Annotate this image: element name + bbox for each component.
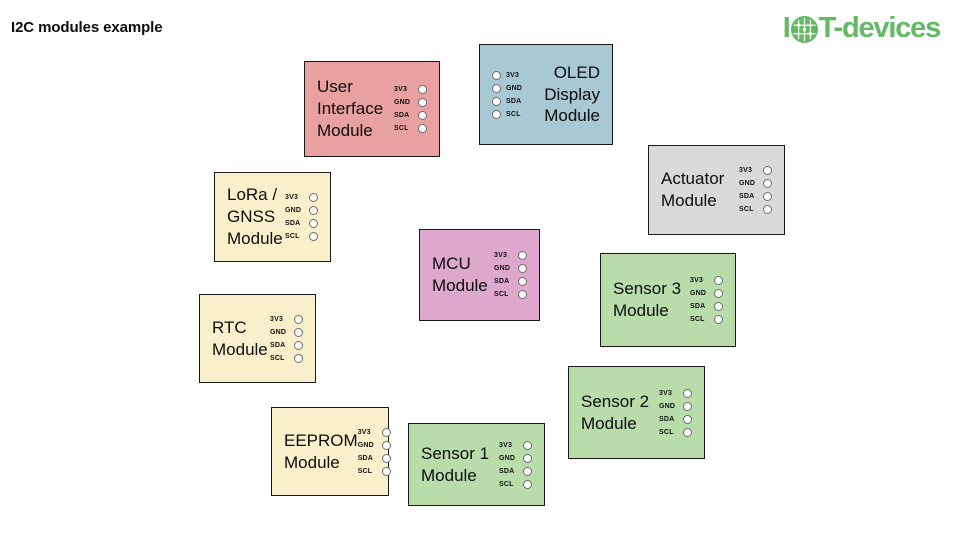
pin-pad-icon[interactable] <box>418 111 427 120</box>
pin-row[interactable]: SDA <box>394 110 427 121</box>
module-name: Sensor 2 Module <box>581 391 649 435</box>
module-name: EEPROM Module <box>284 430 358 474</box>
pin-row[interactable]: 3V3 <box>394 84 427 95</box>
brand-text-before: I <box>783 14 790 43</box>
pin-row[interactable]: SCL <box>285 231 318 242</box>
pin-row[interactable]: GND <box>494 263 527 274</box>
module-sensor-1[interactable]: Sensor 1 Module3V3GNDSDASCL <box>408 423 545 506</box>
pin-label: SDA <box>394 112 413 119</box>
pin-pad-icon[interactable] <box>714 315 723 324</box>
pin-row[interactable]: SDA <box>492 96 525 107</box>
pin-row[interactable]: SCL <box>394 123 427 134</box>
pin-label: GND <box>494 265 513 272</box>
pin-label: SDA <box>499 468 518 475</box>
pin-header: 3V3GNDSDASCL <box>492 70 525 120</box>
pin-label: GND <box>285 207 304 214</box>
pin-row[interactable]: 3V3 <box>285 192 318 203</box>
pin-label: SCL <box>506 111 525 118</box>
pin-label: 3V3 <box>506 72 525 79</box>
pin-header: 3V3GNDSDASCL <box>739 165 772 215</box>
pin-pad-icon[interactable] <box>418 124 427 133</box>
pin-label: GND <box>394 99 413 106</box>
pin-pad-icon[interactable] <box>714 289 723 298</box>
pin-row[interactable]: SCL <box>358 466 391 477</box>
module-user-interface[interactable]: User Interface Module3V3GNDSDASCL <box>304 61 440 157</box>
module-actuator[interactable]: Actuator Module3V3GNDSDASCL <box>648 145 785 235</box>
pin-pad-icon[interactable] <box>683 402 692 411</box>
pin-header: 3V3GNDSDASCL <box>690 275 723 325</box>
pin-label: GND <box>506 85 525 92</box>
pin-pad-icon[interactable] <box>309 193 318 202</box>
brand-text-after: T-devices <box>819 14 940 43</box>
pin-row[interactable]: SDA <box>358 453 391 464</box>
pin-pad-icon[interactable] <box>492 71 501 80</box>
pin-label: SCL <box>494 291 513 298</box>
pin-pad-icon[interactable] <box>518 264 527 273</box>
pin-row[interactable]: SCL <box>690 314 723 325</box>
pin-label: SCL <box>690 316 709 323</box>
pin-row[interactable]: GND <box>270 327 303 338</box>
module-name: Sensor 3 Module <box>613 278 681 322</box>
pin-pad-icon[interactable] <box>518 251 527 260</box>
pin-label: 3V3 <box>690 277 709 284</box>
pin-pad-icon[interactable] <box>492 84 501 93</box>
diagram-canvas: I2C modules example I <box>0 0 960 540</box>
pin-label: 3V3 <box>499 442 518 449</box>
pin-pad-icon[interactable] <box>294 315 303 324</box>
pin-label: 3V3 <box>285 194 304 201</box>
module-name: LoRa / GNSS Module <box>227 184 283 250</box>
pin-row[interactable]: 3V3 <box>270 314 303 325</box>
pin-row[interactable]: SCL <box>499 479 532 490</box>
pin-row[interactable]: SDA <box>499 466 532 477</box>
pin-header: 3V3GNDSDASCL <box>285 192 318 242</box>
pin-pad-icon[interactable] <box>683 389 692 398</box>
pin-pad-icon[interactable] <box>294 328 303 337</box>
pin-header: 3V3GNDSDASCL <box>499 440 532 490</box>
pin-label: SCL <box>739 206 758 213</box>
pin-label: GND <box>270 329 289 336</box>
pin-pad-icon[interactable] <box>523 480 532 489</box>
pin-label: GND <box>358 442 377 449</box>
pin-label: 3V3 <box>358 429 377 436</box>
pin-row[interactable]: SDA <box>659 414 692 425</box>
pin-pad-icon[interactable] <box>294 341 303 350</box>
pin-row[interactable]: SCL <box>739 204 772 215</box>
module-mcu[interactable]: MCU Module3V3GNDSDASCL <box>419 229 540 321</box>
pin-pad-icon[interactable] <box>683 415 692 424</box>
pin-pad-icon[interactable] <box>382 454 391 463</box>
pin-row[interactable]: GND <box>739 178 772 189</box>
pin-label: SCL <box>285 233 304 240</box>
pin-row[interactable]: 3V3 <box>494 250 527 261</box>
pin-pad-icon[interactable] <box>382 441 391 450</box>
module-sensor-2[interactable]: Sensor 2 Module3V3GNDSDASCL <box>568 366 705 459</box>
pin-pad-icon[interactable] <box>518 290 527 299</box>
pin-pad-icon[interactable] <box>683 428 692 437</box>
pin-row[interactable]: GND <box>499 453 532 464</box>
pin-header: 3V3GNDSDASCL <box>270 314 303 364</box>
module-name: RTC Module <box>212 317 268 361</box>
pin-label: GND <box>739 180 758 187</box>
pin-row[interactable]: 3V3 <box>690 275 723 286</box>
pin-label: SDA <box>270 342 289 349</box>
pin-label: 3V3 <box>270 316 289 323</box>
pin-row[interactable]: SDA <box>270 340 303 351</box>
pin-pad-icon[interactable] <box>763 205 772 214</box>
module-lora-gnss[interactable]: LoRa / GNSS Module3V3GNDSDASCL <box>214 172 331 262</box>
pin-header: 3V3GNDSDASCL <box>494 250 527 300</box>
module-sensor-3[interactable]: Sensor 3 Module3V3GNDSDASCL <box>600 253 736 347</box>
pin-label: GND <box>659 403 678 410</box>
pin-row[interactable]: 3V3 <box>739 165 772 176</box>
pin-row[interactable]: GND <box>358 440 391 451</box>
page-title: I2C modules example <box>11 19 163 36</box>
pin-pad-icon[interactable] <box>523 441 532 450</box>
pin-pad-icon[interactable] <box>294 354 303 363</box>
pin-label: 3V3 <box>659 390 678 397</box>
pin-row[interactable]: GND <box>492 83 525 94</box>
brand-logo: I T-devi <box>783 11 940 45</box>
pin-pad-icon[interactable] <box>492 110 501 119</box>
pin-label: SCL <box>499 481 518 488</box>
globe-circuit-icon <box>791 16 818 43</box>
pin-pad-icon[interactable] <box>763 192 772 201</box>
pin-label: SCL <box>659 429 678 436</box>
pin-pad-icon[interactable] <box>523 467 532 476</box>
pin-pad-icon[interactable] <box>523 454 532 463</box>
pin-label: SDA <box>285 220 304 227</box>
module-rtc[interactable]: RTC Module3V3GNDSDASCL <box>199 294 316 383</box>
pin-pad-icon[interactable] <box>492 97 501 106</box>
pin-label: SCL <box>358 468 377 475</box>
pin-row[interactable]: SDA <box>739 191 772 202</box>
pin-label: 3V3 <box>394 86 413 93</box>
module-name: OLED Display Module <box>544 62 600 128</box>
pin-label: GND <box>690 290 709 297</box>
pin-row[interactable]: SCL <box>492 109 525 120</box>
pin-row[interactable]: 3V3 <box>659 388 692 399</box>
pin-row[interactable]: GND <box>285 205 318 216</box>
pin-row[interactable]: 3V3 <box>499 440 532 451</box>
pin-label: SDA <box>659 416 678 423</box>
pin-row[interactable]: SDA <box>285 218 318 229</box>
pin-header: 3V3GNDSDASCL <box>394 84 427 134</box>
pin-label: GND <box>499 455 518 462</box>
pin-pad-icon[interactable] <box>309 206 318 215</box>
pin-pad-icon[interactable] <box>714 302 723 311</box>
pin-pad-icon[interactable] <box>518 277 527 286</box>
module-name: Actuator Module <box>661 168 724 212</box>
pin-pad-icon[interactable] <box>382 467 391 476</box>
pin-row[interactable]: SCL <box>494 289 527 300</box>
pin-row[interactable]: SDA <box>494 276 527 287</box>
pin-header: 3V3GNDSDASCL <box>358 427 391 477</box>
pin-label: 3V3 <box>739 167 758 174</box>
pin-row[interactable]: GND <box>690 288 723 299</box>
module-name: MCU Module <box>432 253 488 297</box>
pin-label: SDA <box>739 193 758 200</box>
pin-pad-icon[interactable] <box>714 276 723 285</box>
pin-header: 3V3GNDSDASCL <box>659 388 692 438</box>
module-name: Sensor 1 Module <box>421 443 489 487</box>
pin-label: SDA <box>690 303 709 310</box>
pin-pad-icon[interactable] <box>763 179 772 188</box>
pin-pad-icon[interactable] <box>763 166 772 175</box>
pin-row[interactable]: SCL <box>270 353 303 364</box>
pin-row[interactable]: SDA <box>690 301 723 312</box>
pin-pad-icon[interactable] <box>418 85 427 94</box>
pin-row[interactable]: 3V3 <box>358 427 391 438</box>
pin-pad-icon[interactable] <box>309 232 318 241</box>
pin-row[interactable]: GND <box>394 97 427 108</box>
pin-pad-icon[interactable] <box>309 219 318 228</box>
module-name: User Interface Module <box>317 76 383 142</box>
pin-label: SCL <box>394 125 413 132</box>
pin-label: 3V3 <box>494 252 513 259</box>
pin-label: SDA <box>506 98 525 105</box>
module-eeprom[interactable]: EEPROM Module3V3GNDSDASCL <box>271 407 389 496</box>
pin-label: SDA <box>494 278 513 285</box>
pin-pad-icon[interactable] <box>382 428 391 437</box>
pin-row[interactable]: 3V3 <box>492 70 525 81</box>
pin-row[interactable]: GND <box>659 401 692 412</box>
pin-row[interactable]: SCL <box>659 427 692 438</box>
pin-label: SDA <box>358 455 377 462</box>
pin-pad-icon[interactable] <box>418 98 427 107</box>
pin-label: SCL <box>270 355 289 362</box>
module-oled-display[interactable]: OLED Display Module3V3GNDSDASCL <box>479 44 613 145</box>
